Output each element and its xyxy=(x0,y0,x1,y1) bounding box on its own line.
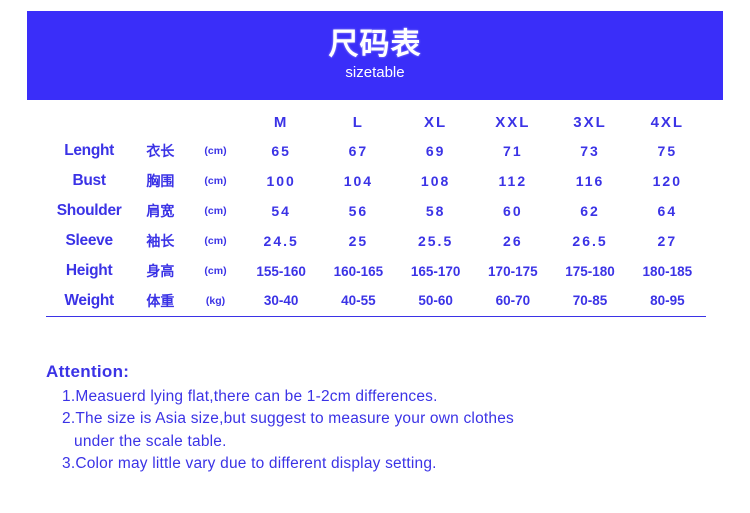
cell-value: 64 xyxy=(629,196,706,226)
size-table-container: M L XL XXL 3XL 4XL Lenght 衣长 (cm) 65 67 … xyxy=(46,108,706,317)
cell-value: 120 xyxy=(629,166,706,196)
cell-value: 69 xyxy=(397,136,474,166)
cell-value: 25.5 xyxy=(397,226,474,256)
cell-value: 30-40 xyxy=(243,286,320,316)
table-row: Shoulder 肩宽 (cm) 54 56 58 60 62 64 xyxy=(46,196,706,226)
row-unit: (cm) xyxy=(188,256,242,286)
row-label-en: Height xyxy=(46,256,132,286)
cell-value: 155-160 xyxy=(243,256,320,286)
cell-value: 60 xyxy=(474,196,551,226)
row-label-cn: 体重 xyxy=(132,286,188,316)
cell-value: 60-70 xyxy=(474,286,551,316)
cell-value: 108 xyxy=(397,166,474,196)
row-unit: (cm) xyxy=(188,136,242,166)
row-label-en: Shoulder xyxy=(46,196,132,226)
row-label-en: Sleeve xyxy=(46,226,132,256)
row-label-cn: 袖长 xyxy=(132,226,188,256)
cell-value: 116 xyxy=(551,166,628,196)
cell-value: 70-85 xyxy=(551,286,628,316)
cell-value: 75 xyxy=(629,136,706,166)
cell-value: 67 xyxy=(320,136,397,166)
header-unit xyxy=(188,108,242,136)
header-banner: 尺码表 sizetable xyxy=(27,11,723,100)
cell-value: 180-185 xyxy=(629,256,706,286)
cell-value: 40-55 xyxy=(320,286,397,316)
cell-value: 71 xyxy=(474,136,551,166)
row-label-en: Bust xyxy=(46,166,132,196)
size-chart-page: 尺码表 sizetable M L XL XXL 3XL 4XL xyxy=(0,0,750,513)
cell-value: 65 xyxy=(243,136,320,166)
size-header-l: L xyxy=(320,108,397,136)
size-table-head: M L XL XXL 3XL 4XL xyxy=(46,108,706,136)
size-header-xxl: XXL xyxy=(474,108,551,136)
row-unit: (cm) xyxy=(188,196,242,226)
cell-value: 26 xyxy=(474,226,551,256)
cell-value: 165-170 xyxy=(397,256,474,286)
cell-value: 73 xyxy=(551,136,628,166)
row-label-cn: 肩宽 xyxy=(132,196,188,226)
cell-value: 62 xyxy=(551,196,628,226)
size-header-m: M xyxy=(243,108,320,136)
attention-section: Attention: 1.Measuerd lying flat,there c… xyxy=(46,362,736,476)
cell-value: 58 xyxy=(397,196,474,226)
size-header-xl: XL xyxy=(397,108,474,136)
cell-value: 54 xyxy=(243,196,320,226)
row-label-cn: 衣长 xyxy=(132,136,188,166)
cell-value: 25 xyxy=(320,226,397,256)
row-label-cn: 胸围 xyxy=(132,166,188,196)
cell-value: 100 xyxy=(243,166,320,196)
cell-value: 104 xyxy=(320,166,397,196)
cell-value: 56 xyxy=(320,196,397,226)
row-unit: (cm) xyxy=(188,226,242,256)
attention-note-2-continued: under the scale table. xyxy=(46,431,736,453)
size-table-body: Lenght 衣长 (cm) 65 67 69 71 73 75 Bust 胸围… xyxy=(46,136,706,316)
table-row: Lenght 衣长 (cm) 65 67 69 71 73 75 xyxy=(46,136,706,166)
cell-value: 24.5 xyxy=(243,226,320,256)
cell-value: 175-180 xyxy=(551,256,628,286)
cell-value: 27 xyxy=(629,226,706,256)
attention-note-1: 1.Measuerd lying flat,there can be 1-2cm… xyxy=(46,386,736,408)
page-subtitle: sizetable xyxy=(345,64,404,82)
size-header-row: M L XL XXL 3XL 4XL xyxy=(46,108,706,136)
row-label-en: Weight xyxy=(46,286,132,316)
table-row: Height 身高 (cm) 155-160 160-165 165-170 1… xyxy=(46,256,706,286)
row-unit: (cm) xyxy=(188,166,242,196)
header-measure-cn xyxy=(132,108,188,136)
row-unit: (kg) xyxy=(188,286,242,316)
page-title: 尺码表 xyxy=(329,29,422,61)
table-row: Weight 体重 (kg) 30-40 40-55 50-60 60-70 7… xyxy=(46,286,706,316)
size-header-3xl: 3XL xyxy=(551,108,628,136)
table-row: Bust 胸围 (cm) 100 104 108 112 116 120 xyxy=(46,166,706,196)
size-header-4xl: 4XL xyxy=(629,108,706,136)
row-label-en: Lenght xyxy=(46,136,132,166)
row-label-cn: 身高 xyxy=(132,256,188,286)
attention-note-2: 2.The size is Asia size,but suggest to m… xyxy=(46,408,736,430)
cell-value: 50-60 xyxy=(397,286,474,316)
attention-title: Attention: xyxy=(46,362,736,382)
attention-note-3: 3.Color may little vary due to different… xyxy=(46,453,736,475)
size-table: M L XL XXL 3XL 4XL Lenght 衣长 (cm) 65 67 … xyxy=(46,108,706,317)
header-measure-en xyxy=(46,108,132,136)
table-row: Sleeve 袖长 (cm) 24.5 25 25.5 26 26.5 27 xyxy=(46,226,706,256)
cell-value: 112 xyxy=(474,166,551,196)
cell-value: 170-175 xyxy=(474,256,551,286)
cell-value: 160-165 xyxy=(320,256,397,286)
cell-value: 26.5 xyxy=(551,226,628,256)
cell-value: 80-95 xyxy=(629,286,706,316)
